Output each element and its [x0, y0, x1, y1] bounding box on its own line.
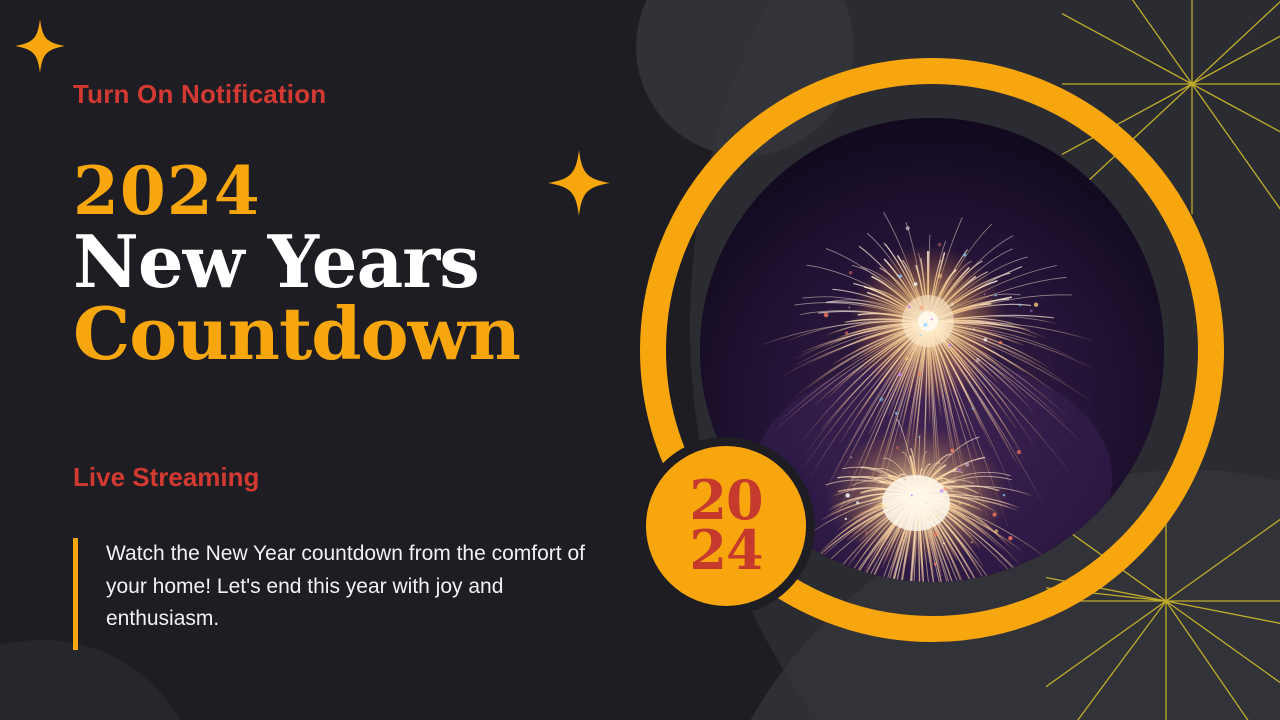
body-paragraph: Watch the New Year countdown from the co…	[106, 538, 606, 650]
eyebrow-label: Turn On Notification	[73, 79, 326, 110]
body-block: Watch the New Year countdown from the co…	[73, 538, 606, 650]
accent-rule	[73, 538, 78, 650]
headline-year: 2024	[73, 160, 633, 222]
headline-line-one: New Years	[73, 228, 633, 296]
page-title: 2024 New Years Countdown	[73, 160, 633, 367]
subheading-label: Live Streaming	[73, 462, 259, 493]
sparkle-star-icon-top-left	[15, 19, 65, 78]
year-badge[interactable]: 20 24	[637, 437, 815, 615]
badge-bottom-digits: 24	[689, 526, 762, 576]
text-column: Turn On Notification 2024 New Years Coun…	[73, 0, 653, 720]
poster-canvas: Turn On Notification 2024 New Years Coun…	[0, 0, 1280, 720]
headline-line-two: Countdown	[73, 300, 633, 368]
